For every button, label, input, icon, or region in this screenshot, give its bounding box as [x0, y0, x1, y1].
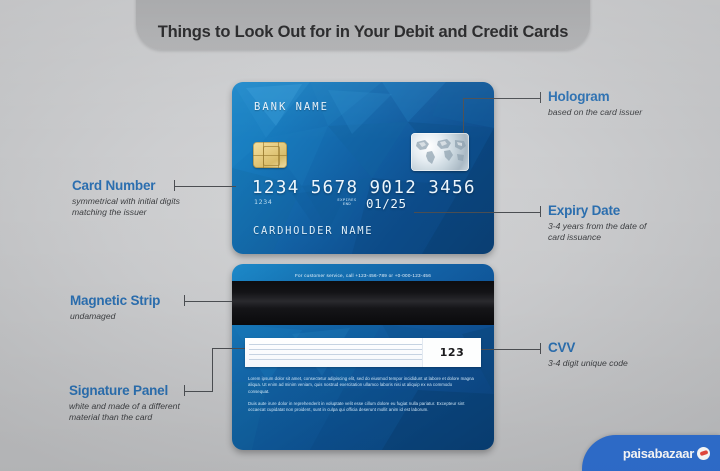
card-number: 1234567890123456 [252, 178, 476, 198]
card-back: For customer service, call +123-456-789 … [232, 264, 494, 450]
expires-end-label: EXPIRES END [334, 198, 360, 207]
card-bank-name: BANK NAME [254, 101, 329, 113]
callout-signature-panel-desc: white and made of a different material t… [69, 401, 199, 423]
expires-label-line2: END [334, 202, 360, 206]
leader-line-expiry-date [414, 212, 541, 213]
leader-line-signature-panel-h1 [184, 391, 212, 392]
emv-chip-icon [253, 142, 287, 168]
leader-line-hologram-h [463, 98, 541, 99]
brand-ribbon[interactable]: paisabazaar [582, 435, 720, 471]
terms-paragraph-1: Lorem ipsum dolor sit amet, consectetur … [248, 376, 474, 395]
callout-cvv-desc: 3-4 digit unique code [548, 358, 688, 369]
leader-line-magnetic-strip [184, 301, 236, 302]
leader-line-hologram-v [463, 98, 464, 134]
customer-service-text: For customer service, call +123-456-789 … [232, 273, 494, 278]
cardholder-name: CARDHOLDER NAME [253, 225, 373, 237]
callout-magnetic-strip-desc: undamaged [70, 311, 215, 322]
leader-line-signature-panel-h2 [212, 348, 248, 349]
callout-expiry-date-desc: 3-4 years from the date of card issuance [548, 221, 660, 243]
infographic-canvas: Things to Look Out for in Your Debit and… [0, 0, 720, 471]
callout-card-number-desc: symmetrical with initial digits matching… [72, 196, 182, 218]
callout-signature-panel: Signature Panel white and made of a diff… [69, 383, 234, 423]
card-number-group-3: 9012 [370, 178, 418, 198]
callout-hologram-title: Hologram [548, 89, 708, 105]
callout-card-number: Card Number symmetrical with initial dig… [72, 178, 207, 218]
card-sub-number: 1234 [254, 198, 272, 206]
leader-line-signature-panel-v [212, 348, 213, 392]
callout-hologram: Hologram based on the card issuer [548, 89, 708, 118]
callout-magnetic-strip: Magnetic Strip undamaged [70, 293, 215, 322]
hologram-world-map-icon [411, 133, 469, 171]
callout-cvv-title: CVV [548, 340, 708, 356]
leader-line-cvv [478, 349, 541, 350]
cvv-box: 123 [423, 338, 481, 367]
magnetic-strip [232, 281, 494, 325]
card-back-terms: Lorem ipsum dolor sit amet, consectetur … [248, 376, 474, 413]
leader-line-card-number [174, 186, 236, 187]
card-expiry-value: 01/25 [366, 196, 407, 211]
callout-hologram-desc: based on the card issuer [548, 107, 688, 118]
brand-name: paisabazaar [623, 446, 694, 461]
card-number-group-1: 1234 [252, 178, 300, 198]
cvv-value: 123 [440, 346, 464, 359]
header-banner: Things to Look Out for in Your Debit and… [136, 0, 590, 50]
card-number-group-2: 5678 [311, 178, 359, 198]
card-number-group-4: 3456 [428, 178, 476, 198]
page-title: Things to Look Out for in Your Debit and… [158, 23, 568, 42]
callout-expiry-date: Expiry Date 3-4 years from the date of c… [548, 203, 708, 243]
callout-expiry-date-title: Expiry Date [548, 203, 708, 219]
signature-panel: 123 [245, 338, 481, 367]
terms-paragraph-2: Duis aute irure dolor in reprehenderit i… [248, 401, 474, 414]
callout-cvv: CVV 3-4 digit unique code [548, 340, 708, 369]
paisabazaar-circle-icon [697, 447, 710, 460]
